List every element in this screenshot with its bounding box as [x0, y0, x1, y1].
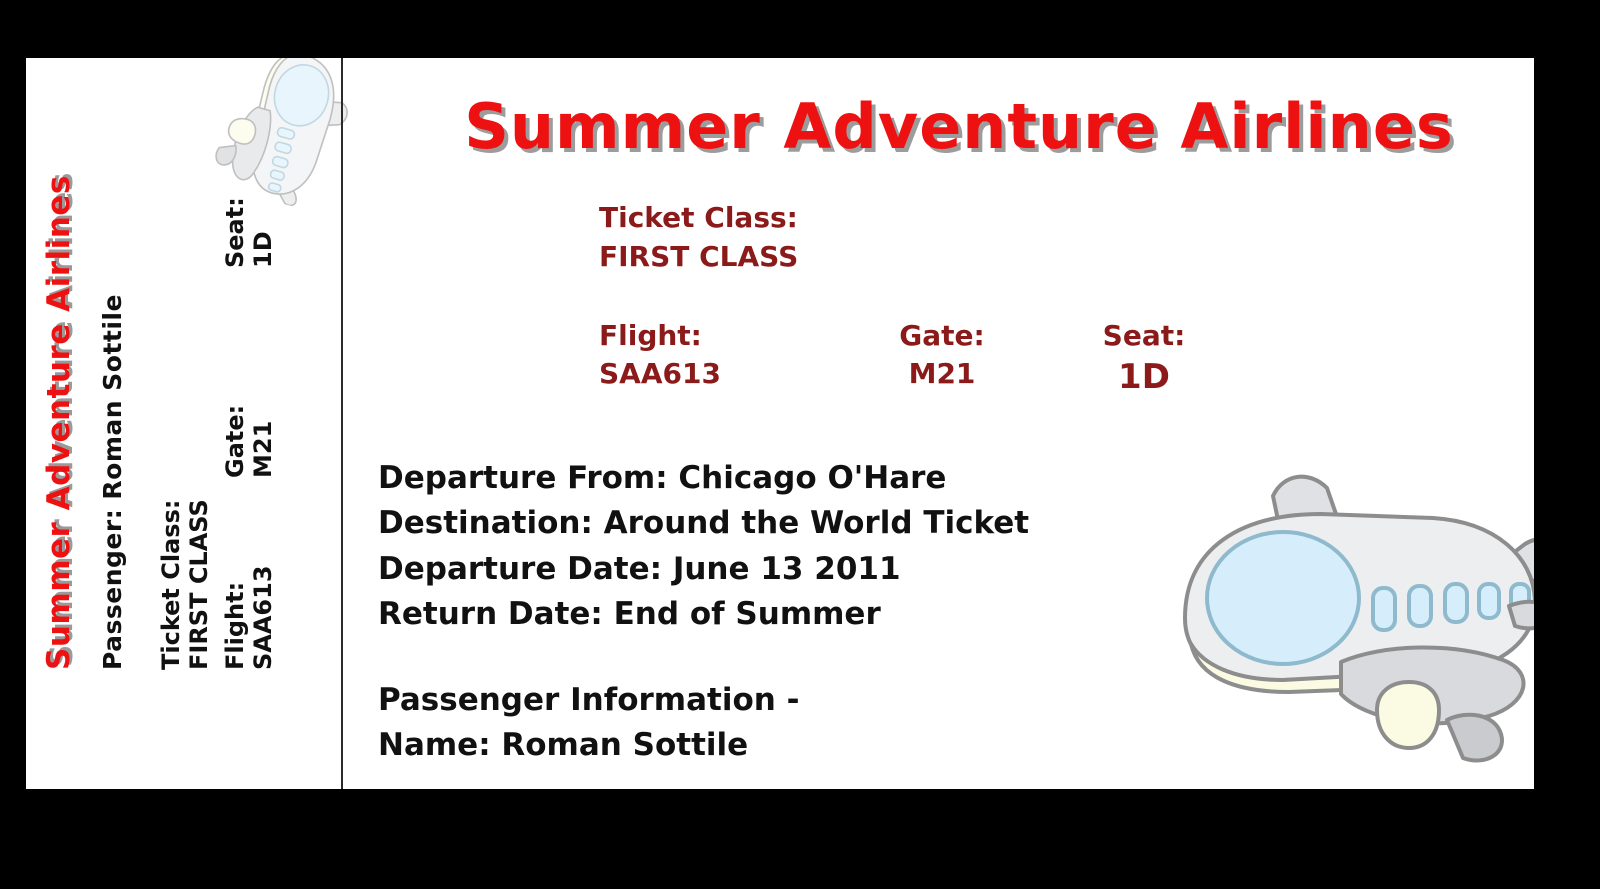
- gate-label: Gate:: [877, 317, 1007, 355]
- itinerary-details: Departure From: Chicago O'Hare Destinati…: [378, 456, 1029, 637]
- stub-ticket-class-label: Ticket Class:: [158, 499, 186, 670]
- stub-flight-label: Flight:: [222, 565, 250, 670]
- seat-label: Seat:: [1079, 317, 1209, 355]
- screenshot-canvas: Summer Adventure Airlines Passenger: Rom…: [0, 0, 1600, 889]
- flight-field: Flight: SAA613: [599, 317, 721, 392]
- stub-flight-value: SAA613: [250, 565, 278, 670]
- seat-field: Seat: 1D: [1079, 317, 1209, 400]
- ticket-main-body: Summer Adventure Airlines Ticket Class: …: [343, 58, 1534, 789]
- stub-flight: Flight: SAA613: [222, 565, 278, 670]
- boarding-pass-ticket: Summer Adventure Airlines Passenger: Rom…: [26, 58, 1534, 789]
- stub-seat-value: 1D: [250, 197, 278, 268]
- passenger-information-block: Passenger Information - Name: Roman Sott…: [378, 678, 799, 769]
- gate-field: Gate: M21: [877, 317, 1007, 392]
- stub-seat: Seat: 1D: [222, 197, 278, 268]
- stub-ticket-class-value: FIRST CLASS: [186, 499, 214, 670]
- ticket-class-label: Ticket Class:: [599, 199, 798, 238]
- airplane-icon: [1133, 448, 1534, 778]
- stub-seat-label: Seat:: [222, 197, 250, 268]
- page-title: Summer Adventure Airlines: [409, 90, 1509, 163]
- flight-value: SAA613: [599, 355, 721, 393]
- flight-gate-seat-row: Flight: SAA613 Gate: M21 Seat: 1D: [599, 317, 1479, 417]
- departure-from-text: Departure From: Chicago O'Hare: [378, 456, 1029, 501]
- passenger-information-heading: Passenger Information -: [378, 678, 799, 723]
- stub-passenger-name: Passenger: Roman Sottile: [98, 294, 127, 670]
- destination-text: Destination: Around the World Ticket: [378, 501, 1029, 546]
- departure-date-text: Departure Date: June 13 2011: [378, 547, 1029, 592]
- ticket-class-block: Ticket Class: FIRST CLASS: [599, 199, 798, 276]
- stub-gate-label: Gate:: [222, 405, 250, 478]
- stub-ticket-class: Ticket Class: FIRST CLASS: [158, 499, 214, 670]
- seat-value: 1D: [1079, 355, 1209, 401]
- stub-gate: Gate: M21: [222, 405, 278, 478]
- gate-value: M21: [877, 355, 1007, 393]
- stub-brand-logo: Summer Adventure Airlines: [42, 175, 78, 670]
- flight-label: Flight:: [599, 317, 721, 355]
- ticket-stub: Summer Adventure Airlines Passenger: Rom…: [26, 58, 341, 789]
- passenger-name-text: Name: Roman Sottile: [378, 723, 799, 768]
- stub-gate-value: M21: [250, 405, 278, 478]
- ticket-class-value: FIRST CLASS: [599, 238, 798, 277]
- return-date-text: Return Date: End of Summer: [378, 592, 1029, 637]
